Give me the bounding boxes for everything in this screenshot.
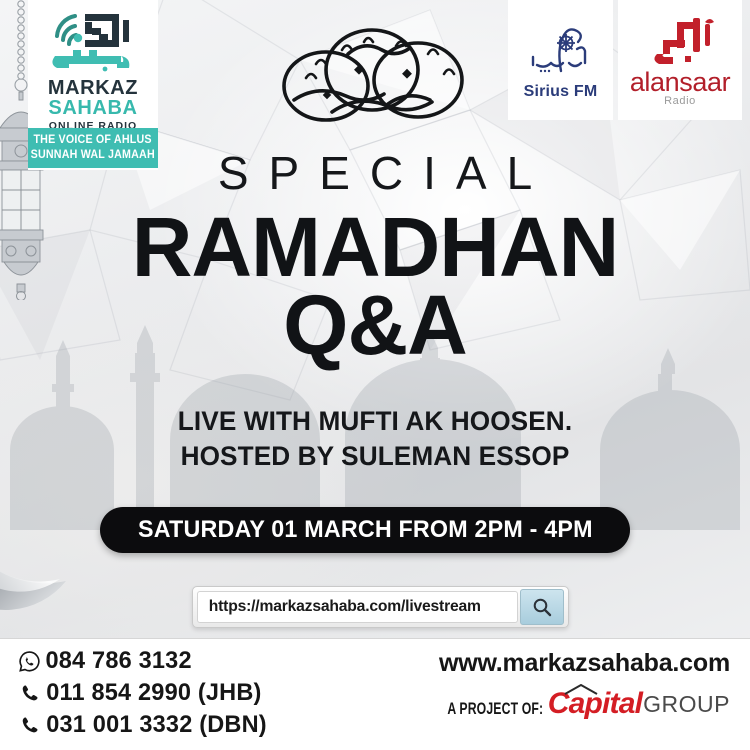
headline-kicker: SPECIAL — [0, 148, 750, 198]
arabic-ramadan-calligraphy-icon — [268, 8, 468, 128]
contact-number-jhb: 011 854 2990 (JHB) — [46, 679, 261, 707]
sirius-fm-label: Sirius FM — [524, 83, 598, 101]
logo-name-sahaba: SAHABA — [28, 98, 158, 118]
partner-logo-sirius-fm: Sirius FM — [508, 0, 613, 120]
logo-name-markaz: MARKAZ — [28, 78, 158, 98]
alansaar-arabic-logo-icon — [637, 14, 723, 68]
capital-brand: Capital — [548, 689, 642, 719]
event-date-text: SATURDAY 01 MARCH FROM 2PM - 4PM — [138, 516, 593, 544]
contact-number-whatsapp: 084 786 3132 — [45, 647, 191, 675]
partner-logo-alansaar: alansaar Radio — [618, 0, 742, 120]
group-label: GROUP — [643, 689, 730, 719]
speaker-line-1: LIVE WITH MUFTI AK HOOSEN. — [11, 405, 739, 437]
url-value: https://markazsahaba.com/livestream — [209, 598, 481, 616]
whatsapp-icon — [14, 650, 44, 673]
speaker-line-2: HOSTED BY SULEMAN ESSOP — [11, 440, 739, 472]
contact-list: 084 786 3132 011 854 2990 (JHB) 031 001 … — [14, 645, 269, 741]
sirius-fm-arabic-logo-icon — [525, 19, 597, 81]
contact-row-jhb[interactable]: 011 854 2990 (JHB) — [14, 677, 269, 709]
contact-row-whatsapp[interactable]: 084 786 3132 — [14, 645, 269, 677]
url-input[interactable]: https://markazsahaba.com/livestream — [197, 591, 518, 623]
contact-number-dbn: 031 001 3332 (DBN) — [46, 711, 267, 739]
search-icon — [532, 597, 552, 617]
project-label: A PROJECT OF: — [448, 699, 544, 719]
poster-canvas: MARKAZ SAHABA ONLINE RADIO THE VOICE OF … — [0, 0, 750, 750]
website-url[interactable]: www.markazsahaba.com — [439, 649, 730, 678]
phone-icon — [14, 715, 44, 736]
phone-icon — [14, 683, 44, 704]
contact-row-dbn[interactable]: 031 001 3332 (DBN) — [14, 709, 269, 741]
headline-line-1: RAMADHAN — [0, 205, 750, 289]
alansaar-label: alansaar — [630, 69, 730, 96]
event-date-badge: SATURDAY 01 MARCH FROM 2PM - 4PM — [100, 507, 630, 553]
livestream-url-bar[interactable]: https://markazsahaba.com/livestream — [192, 586, 569, 628]
tagline-line-1: THE VOICE OF AHLUS — [34, 133, 152, 148]
alansaar-sublabel: Radio — [664, 95, 696, 107]
footer: 084 786 3132 011 854 2990 (JHB) 031 001 … — [0, 638, 750, 750]
headline-line-2: Q&A — [0, 283, 750, 367]
search-button[interactable] — [520, 589, 564, 625]
capital-roof-icon — [564, 684, 598, 695]
project-credit: A PROJECT OF: Capital GROUP — [410, 689, 730, 719]
markaz-sahaba-mark-icon — [45, 6, 141, 76]
